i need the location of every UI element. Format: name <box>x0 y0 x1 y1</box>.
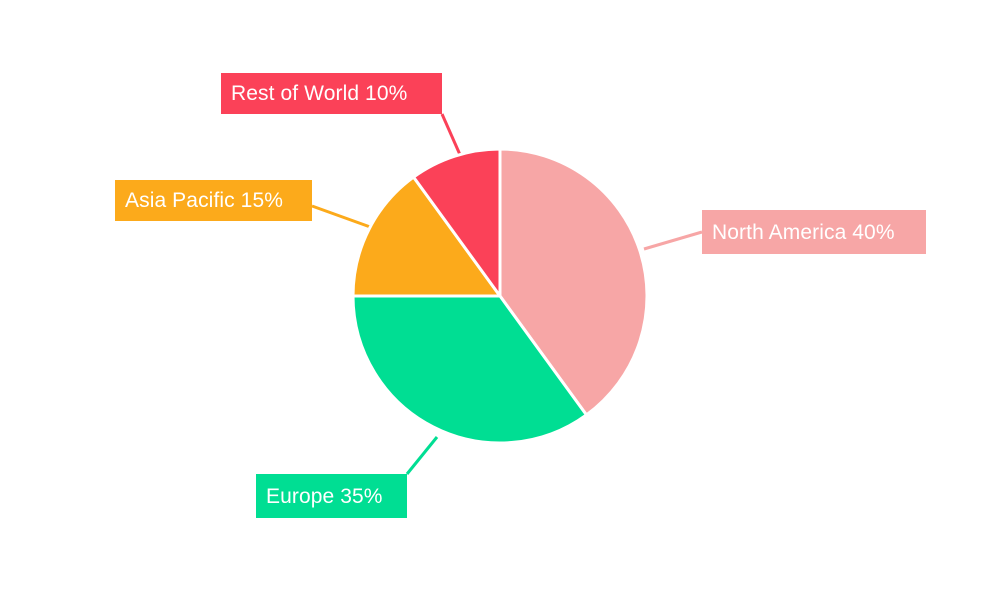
leader-line-north-america <box>644 232 702 249</box>
pie-chart-canvas <box>0 0 1000 600</box>
slice-label-text: Asia Pacific 15% <box>125 190 283 211</box>
leader-line-europe <box>407 437 437 474</box>
slice-label-text: North America 40% <box>712 222 895 243</box>
pie-chart: North America 40% Europe 35% Asia Pacifi… <box>0 0 1000 600</box>
slice-label-europe: Europe 35% <box>256 474 407 518</box>
leader-line-rest-of-world <box>442 114 461 157</box>
slice-label-text: Europe 35% <box>266 486 383 507</box>
pie-wedges-group <box>353 149 647 443</box>
slice-label-asia-pacific: Asia Pacific 15% <box>115 180 312 221</box>
slice-label-rest-of-world: Rest of World 10% <box>221 73 442 114</box>
slice-label-north-america: North America 40% <box>702 210 926 254</box>
leader-line-asia-pacific <box>312 206 373 228</box>
slice-label-text: Rest of World 10% <box>231 83 407 104</box>
